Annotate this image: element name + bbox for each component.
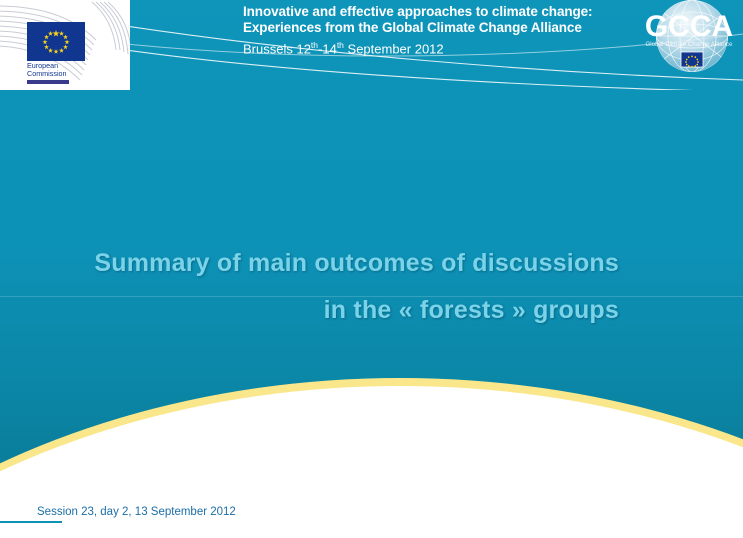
conference-date-suffix: September 2012 bbox=[344, 41, 444, 56]
slide-title: Summary of main outcomes of discussions … bbox=[0, 240, 700, 334]
gcca-eu-flag-icon bbox=[681, 52, 703, 67]
conference-date-sup-2: th bbox=[337, 40, 344, 50]
gcca-acronym: GCCA bbox=[645, 10, 733, 43]
slide-title-line-1: Summary of main outcomes of discussions bbox=[0, 240, 700, 287]
conference-title-line-2: Experiences from the Global Climate Chan… bbox=[243, 20, 582, 35]
presentation-slide: Summary of main outcomes of discussions … bbox=[0, 0, 743, 538]
gcca-logo: GCCA Global Climate Change Alliance bbox=[636, 0, 743, 78]
conference-date-sup-1: th bbox=[311, 40, 318, 50]
ec-underline-bar bbox=[27, 80, 69, 84]
european-commission-label: European Commission bbox=[27, 62, 99, 78]
ec-label-line-2: Commission bbox=[27, 69, 67, 78]
conference-title-line-1: Innovative and effective approaches to c… bbox=[243, 4, 592, 19]
conference-title: Innovative and effective approaches to c… bbox=[243, 4, 673, 35]
conference-location-date: Brussels 12th-14th September 2012 bbox=[243, 37, 673, 57]
footer-session-label: Session 23, day 2, 13 September 2012 bbox=[37, 506, 236, 518]
european-commission-logo: European Commission bbox=[0, 0, 130, 90]
footer-accent-rule bbox=[0, 521, 62, 523]
slide-title-line-2: in the « forests » groups bbox=[0, 287, 700, 334]
gcca-tagline: Global Climate Change Alliance bbox=[645, 41, 733, 48]
slide-header: Innovative and effective approaches to c… bbox=[0, 0, 743, 90]
eu-flag-icon bbox=[27, 22, 85, 61]
conference-date-prefix: Brussels 12 bbox=[243, 41, 311, 56]
conference-date-mid: -14 bbox=[318, 41, 337, 56]
